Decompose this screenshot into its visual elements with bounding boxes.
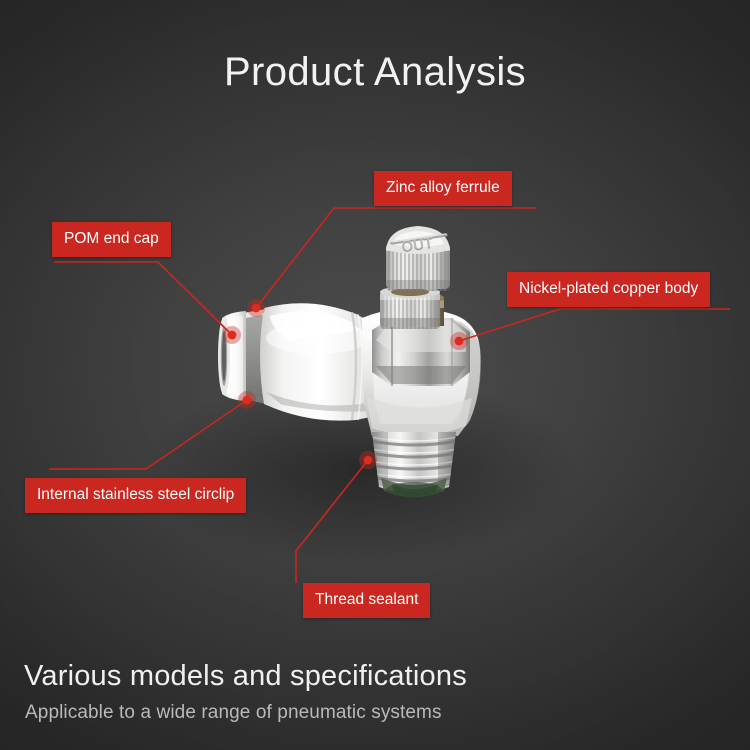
leader-line-internal-stainless-steel-circlip [49,400,247,469]
leader-dot-pom-end-cap [228,331,237,340]
callout-label-thread-sealant[interactable]: Thread sealant [303,583,430,618]
svg-text:OUT: OUT [401,235,435,256]
callout-leader-lines [0,0,750,750]
footer-subline: Applicable to a wide range of pneumatic … [25,702,442,724]
leader-line-pom-end-cap [54,262,232,335]
leader-dot-halo-thread-sealant [359,451,377,469]
leader-dot-halo-pom-end-cap [223,326,241,344]
product-analysis-infographic: OUT OUT [0,0,750,750]
leader-dot-halo-zinc-alloy-ferrule [247,299,265,317]
callout-label-internal-stainless-steel-circlip[interactable]: Internal stainless steel circlip [25,478,246,513]
leader-dot-halo-internal-stainless-steel-circlip [238,391,256,409]
svg-text:OUT: OUT [401,234,435,255]
callout-label-pom-end-cap[interactable]: POM end cap [52,222,171,257]
footer-headline: Various models and specifications [24,660,467,693]
leader-dot-thread-sealant [364,456,373,465]
leader-dot-halo-nickel-plated-copper-body [450,332,468,350]
leader-line-thread-sealant [296,460,368,583]
leader-line-nickel-plated-copper-body [459,309,730,341]
callout-label-nickel-plated-copper-body[interactable]: Nickel-plated copper body [507,272,710,307]
leader-dot-internal-stainless-steel-circlip [243,396,252,405]
page-title: Product Analysis [0,50,750,95]
leader-dot-nickel-plated-copper-body [455,337,464,346]
product-image: OUT OUT [0,0,750,750]
leader-line-zinc-alloy-ferrule [256,208,536,308]
callout-label-zinc-alloy-ferrule[interactable]: Zinc alloy ferrule [374,171,512,206]
leader-dot-zinc-alloy-ferrule [252,304,261,313]
vignette-overlay [0,0,750,750]
